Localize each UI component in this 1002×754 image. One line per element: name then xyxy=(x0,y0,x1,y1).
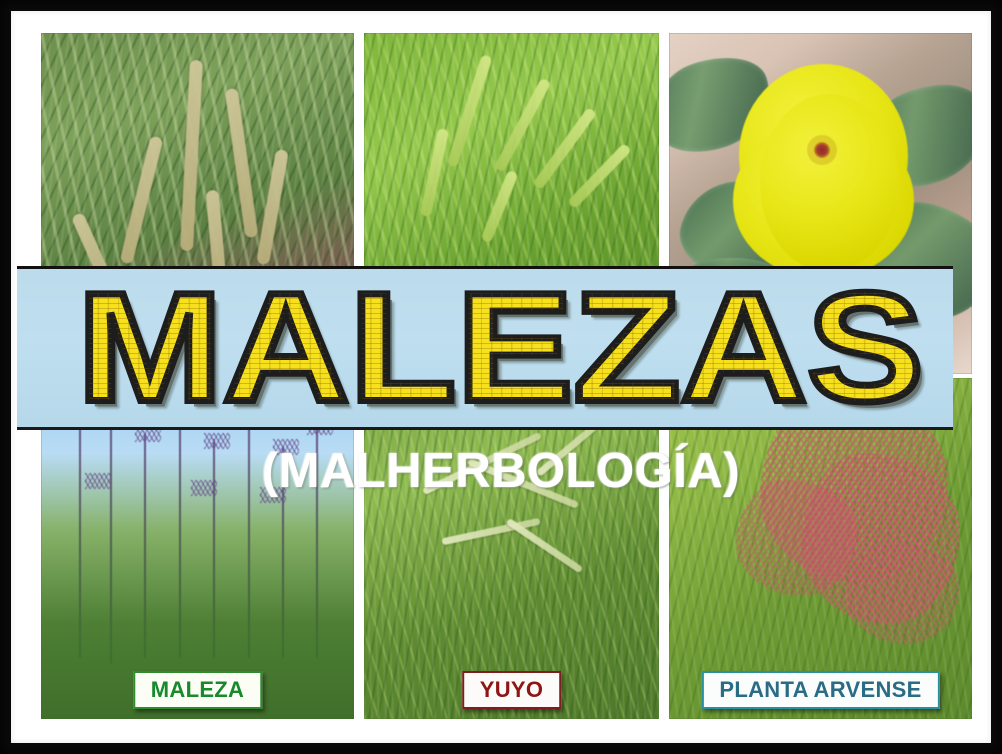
title-band xyxy=(17,266,953,430)
caption-planta-arvense[interactable]: PLANTA ARVENSE xyxy=(701,671,939,709)
caption-yuyo[interactable]: YUYO xyxy=(462,671,562,709)
poster-white-mat: MONTE P. INDESEABLE xyxy=(11,11,991,743)
poster-outer-frame: MONTE P. INDESEABLE xyxy=(0,0,1002,754)
caption-maleza[interactable]: MALEZA xyxy=(133,671,262,709)
